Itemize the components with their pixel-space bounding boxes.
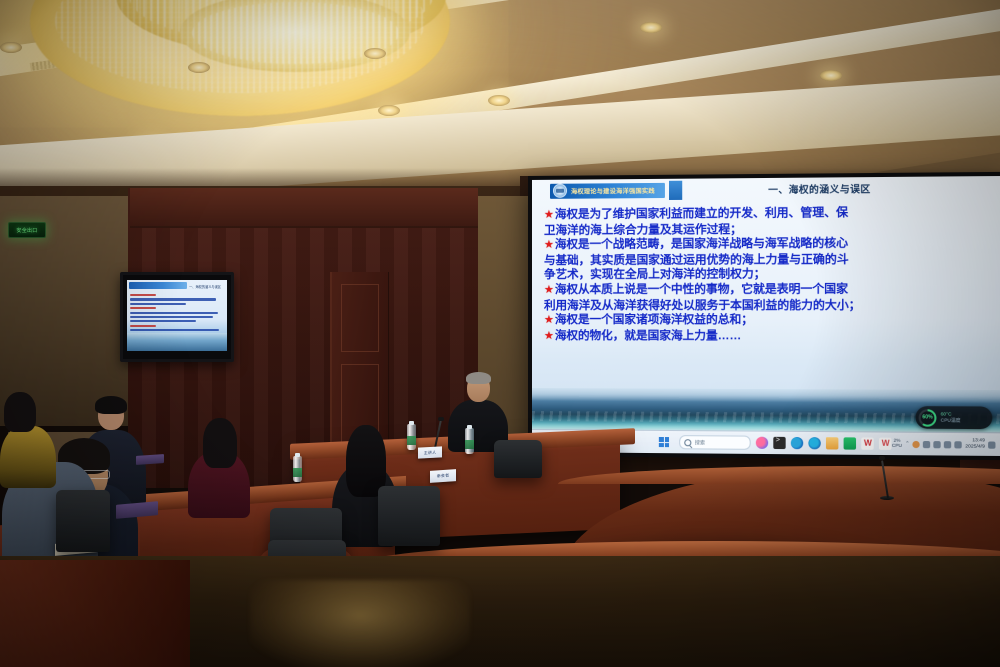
- speaker-presenter: [448, 372, 508, 448]
- exit-sign-label: 安全出口: [16, 227, 37, 234]
- ceiling-downlight: [820, 70, 842, 81]
- water-bottle[interactable]: [407, 424, 416, 450]
- bullet-line: 海权从本质上说是一个中性的事物，它就是表明一个国家: [555, 282, 848, 297]
- attendee-seated-maroon: [188, 420, 250, 516]
- ceiling-downlight: [378, 105, 400, 116]
- tray-cpu-label: CPU: [892, 444, 902, 449]
- ceiling-downlight: [640, 22, 662, 33]
- browser-alt-icon[interactable]: [809, 437, 821, 449]
- secondary-display-screen: 一、海权的涵义与误区: [127, 280, 227, 351]
- presentation-slide: 海权理论与建设海洋强国实践 一、海权的涵义与误区 ★ 海权是为了维护国家利益而建…: [532, 176, 1000, 433]
- attendee-hair: [203, 418, 237, 468]
- search-placeholder: 搜索: [695, 439, 705, 446]
- tray-cpu-meter[interactable]: 2% CPU: [892, 439, 902, 449]
- attendee-hair: [95, 396, 127, 414]
- bullet-line: 海权的物化，就是国家海上力量……: [555, 329, 741, 344]
- edge-browser-icon[interactable]: [791, 437, 803, 449]
- bullet-line: 争艺术，实现在全局上对海洋的控制权力；: [544, 267, 990, 283]
- star-bullet-icon: ★: [544, 238, 554, 252]
- text-line: [130, 312, 218, 314]
- star-bullet-icon: ★: [544, 283, 554, 297]
- text-line: [130, 320, 196, 322]
- search-icon: [685, 439, 692, 446]
- chandelier-ring-3: [180, 0, 410, 72]
- text-line: [130, 307, 156, 309]
- bullet-line: 海权是一个战略范畴，是国家海洋战略与海军战略的核心: [555, 237, 848, 253]
- text-line: [130, 325, 156, 327]
- foreground-table-left: [0, 560, 190, 667]
- bullet-line: 海权是为了维护国家利益而建立的开发、利用、管理、保: [555, 206, 848, 223]
- projection-screen: 海权理论与建设海洋强国实践 一、海权的涵义与误区 ★ 海权是为了维护国家利益而建…: [528, 172, 1000, 460]
- network-icon[interactable]: [923, 440, 930, 447]
- windows-logo-icon[interactable]: [659, 437, 669, 447]
- hardware-monitor-widget[interactable]: 60% 60°C CPU温度: [916, 406, 993, 429]
- cpu-usage-gauge: 60%: [919, 409, 937, 427]
- university-emblem-icon: [553, 184, 567, 198]
- taskbar-center: 搜索 W W: [659, 435, 892, 451]
- attendee-torso: [0, 426, 56, 488]
- secondary-display-banner: [129, 282, 187, 289]
- slide-bullet: ★ 海权的物化，就是国家海上力量……: [544, 329, 990, 344]
- ceiling-downlight: [188, 62, 210, 73]
- cpu-usage-value: 60%: [921, 411, 935, 424]
- clock-date: 2025/4/9: [965, 444, 985, 450]
- emergency-exit-sign: 安全出口: [8, 222, 46, 238]
- nameplate-label: 主讲人: [424, 449, 437, 456]
- conference-room-photo: 安全出口 一、海权的涵义与误区: [0, 0, 1000, 667]
- slide-brand-tab: [669, 180, 682, 199]
- office-chair[interactable]: [56, 490, 110, 552]
- text-line: [130, 316, 213, 318]
- microphone-head: [438, 417, 444, 421]
- chandelier-ring-2: [116, 0, 446, 56]
- secondary-display-title: 一、海权的涵义与误区: [189, 284, 221, 289]
- ceiling-downlight: [364, 48, 386, 59]
- input-method-icon[interactable]: [944, 441, 951, 448]
- file-explorer-icon[interactable]: [826, 437, 838, 449]
- nameplate: 参会者: [430, 469, 456, 483]
- slide-body: ★ 海权是为了维护国家利益而建立的开发、利用、管理、保 卫海洋的海上综合力量及其…: [532, 199, 1000, 344]
- mail-icon[interactable]: [844, 437, 856, 449]
- terminal-icon[interactable]: [774, 437, 786, 449]
- attendee-hair: [4, 392, 36, 432]
- slide-header: 海权理论与建设海洋强国实践 一、海权的涵义与误区: [532, 176, 1000, 202]
- taskbar-system-tray: 2% CPU ⌃ 13:49 2025/4/9: [892, 438, 1000, 450]
- bullet-line: 海权是一个国家诸项海洋权益的总和；: [555, 313, 753, 328]
- star-bullet-icon: ★: [544, 208, 554, 222]
- slide-bullet: ★ 海权从本质上说是一个中性的事物，它就是表明一个国家: [544, 282, 990, 298]
- ceiling-downlight: [0, 42, 22, 53]
- tray-overflow-caret[interactable]: ⌃: [905, 441, 909, 447]
- text-line: [130, 294, 156, 296]
- search-input[interactable]: 搜索: [680, 435, 752, 450]
- slide-bullet: ★ 海权是为了维护国家利益而建立的开发、利用、管理、保: [544, 205, 990, 223]
- text-line: [130, 329, 219, 331]
- projection-screen-surface: 海权理论与建设海洋强国实践 一、海权的涵义与误区 ★ 海权是为了维护国家利益而建…: [532, 176, 1000, 456]
- ceiling: [0, 0, 1000, 200]
- volume-icon[interactable]: [934, 441, 941, 448]
- secondary-display-sea-photo: [127, 333, 227, 351]
- nameplate: 主讲人: [418, 446, 442, 458]
- ceiling-downlight: [488, 95, 510, 106]
- slide-bullet: ★ 海权是一个国家诸项海洋权益的总和；: [544, 313, 990, 328]
- shield-icon[interactable]: [913, 440, 920, 447]
- chat-app-icon[interactable]: [756, 437, 768, 449]
- wood-wall-header-beam: [130, 188, 478, 228]
- text-line: [130, 298, 216, 300]
- office-chair[interactable]: [378, 486, 440, 546]
- bullet-line: 利用海洋及从海洋获得好处以服务于本国利益的能力的大小；: [544, 298, 990, 313]
- microphone-head: [879, 456, 885, 460]
- star-bullet-icon: ★: [544, 329, 554, 343]
- office-chair[interactable]: [494, 440, 542, 478]
- bullet-line: 与基础，其实质是国家通过运用优势的海上力量与正确的斗: [544, 252, 990, 268]
- speaker-hair: [466, 372, 491, 384]
- nameplate-label: 参会者: [437, 473, 450, 480]
- notification-bell-icon[interactable]: [988, 441, 995, 448]
- battery-icon[interactable]: [955, 441, 962, 448]
- slide-brand-label: 海权理论与建设海洋强国实践: [571, 185, 655, 195]
- slide-brand-banner: 海权理论与建设海洋强国实践: [550, 182, 665, 198]
- cpu-meta: 60°C CPU温度: [941, 412, 961, 424]
- attendee-yellow-scarf: [0, 392, 56, 488]
- slide-section-title: 一、海权的涵义与误区: [682, 180, 1000, 197]
- water-bottle[interactable]: [465, 428, 474, 454]
- star-bullet-icon: ★: [544, 313, 554, 327]
- wps-presentation-icon[interactable]: W: [879, 438, 892, 450]
- cpu-temperature-label: CPU温度: [941, 418, 961, 424]
- slide-bullet: ★ 海权是一个战略范畴，是国家海洋战略与海军战略的核心: [544, 236, 990, 253]
- water-bottle[interactable]: [293, 456, 302, 482]
- secondary-display: 一、海权的涵义与误区: [120, 272, 234, 362]
- text-line: [130, 303, 186, 305]
- taskbar-clock[interactable]: 13:49 2025/4/9: [965, 439, 985, 450]
- floor-light-pool: [250, 580, 470, 667]
- wps-writer-icon[interactable]: W: [862, 437, 874, 449]
